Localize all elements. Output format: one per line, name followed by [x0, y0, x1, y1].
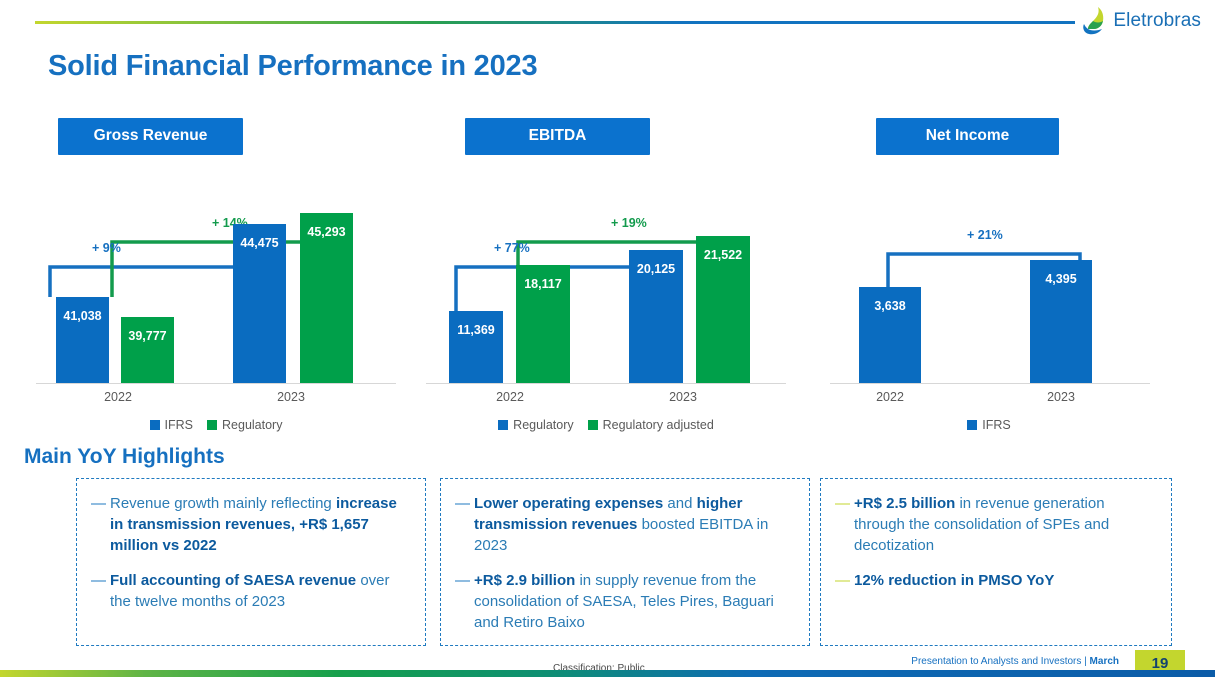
x-tick-2022: 2022 — [860, 390, 920, 404]
bar-value: 18,117 — [516, 277, 570, 291]
bar-value: 20,125 — [629, 262, 683, 276]
bar-value: 41,038 — [56, 309, 109, 323]
legend-swatch-blue-icon — [498, 420, 508, 430]
bullet-dash-icon: — — [835, 493, 854, 556]
bar-ifrs-2023: 4,395 — [1030, 260, 1092, 383]
plot-area-net-income: + 21% 3,638 4,395 — [830, 179, 1200, 384]
footer-presentation-info: Presentation to Analysts and Investors |… — [911, 655, 1119, 681]
pct-label-blue-gross: + 9% — [92, 241, 121, 255]
legend-label: Regulatory — [222, 418, 282, 432]
bar-value: 11,369 — [449, 323, 503, 337]
chart-ebitda: EBITDA + 77% + 19% 11,369 18,117 20,125 … — [426, 118, 786, 438]
bullet-dash-icon: — — [835, 570, 854, 591]
bar-regulatory-2023: 45,293 — [300, 213, 353, 383]
highlight-box-net-income: — +R$ 2.5 billion in revenue generation … — [820, 478, 1172, 646]
bar-regulatory-2022: 11,369 — [449, 311, 503, 383]
legend-item-regulatory: Regulatory — [207, 418, 282, 432]
highlight-box-gross-revenue: — Revenue growth mainly reflecting incre… — [76, 478, 426, 646]
eletrobras-flame-icon — [1081, 6, 1107, 36]
legend-swatch-blue-icon — [967, 420, 977, 430]
chart-net-income: Net Income + 21% 3,638 4,395 2022 2023 I… — [830, 118, 1200, 438]
highlight-item: — Lower operating expenses and higher tr… — [455, 493, 793, 556]
x-tick-2023: 2023 — [261, 390, 321, 404]
legend-label: Regulatory — [513, 418, 573, 432]
chart-title-gross-revenue: Gross Revenue — [58, 118, 243, 155]
x-tick-2022: 2022 — [480, 390, 540, 404]
highlight-text: Full accounting of SAESA revenue over th… — [110, 570, 409, 612]
legend-ebitda: Regulatory Regulatory adjusted — [426, 418, 786, 432]
chart-title-net-income: Net Income — [876, 118, 1059, 155]
legend-item-ifrs: IFRS — [150, 418, 193, 432]
highlight-item: — +R$ 2.5 billion in revenue generation … — [835, 493, 1155, 556]
bullet-dash-icon: — — [455, 493, 474, 556]
bar-value: 21,522 — [696, 248, 750, 262]
bullet-dash-icon: — — [91, 493, 110, 556]
page-title: Solid Financial Performance in 2023 — [48, 50, 537, 83]
legend-net-income: IFRS — [830, 418, 1200, 432]
pct-label-blue-net: + 21% — [967, 228, 1003, 242]
x-tick-2022: 2022 — [88, 390, 148, 404]
highlight-item: — Full accounting of SAESA revenue over … — [91, 570, 409, 612]
eletrobras-logo: Eletrobras — [1081, 4, 1201, 38]
bar-value: 4,395 — [1030, 272, 1092, 286]
legend-item-regulatory-adjusted: Regulatory adjusted — [588, 418, 714, 432]
legend-label: Regulatory adjusted — [603, 418, 714, 432]
pct-label-blue-ebitda: + 77% — [494, 241, 530, 255]
bar-regulatory-2022: 39,777 — [121, 317, 174, 383]
highlights-heading: Main YoY Highlights — [24, 445, 225, 469]
highlight-text: 12% reduction in PMSO YoY — [854, 570, 1054, 591]
legend-swatch-green-icon — [207, 420, 217, 430]
bar-regulatory-adjusted-2023: 21,522 — [696, 236, 750, 383]
x-axis-labels-ebitda: 2022 2023 — [426, 384, 786, 410]
legend-swatch-blue-icon — [150, 420, 160, 430]
highlight-item: — Revenue growth mainly reflecting incre… — [91, 493, 409, 556]
bar-value: 44,475 — [233, 236, 286, 250]
legend-item-regulatory: Regulatory — [498, 418, 573, 432]
highlight-text: Lower operating expenses and higher tran… — [474, 493, 793, 556]
plot-area-ebitda: + 77% + 19% 11,369 18,117 20,125 21,522 — [426, 179, 786, 384]
bar-regulatory-adjusted-2022: 18,117 — [516, 265, 570, 383]
bullet-dash-icon: — — [455, 570, 474, 633]
bar-ifrs-2023: 44,475 — [233, 224, 286, 383]
bar-value: 39,777 — [121, 329, 174, 343]
x-axis-labels-net: 2022 2023 — [830, 384, 1200, 410]
bullet-dash-icon: — — [91, 570, 110, 612]
bar-ifrs-2022: 41,038 — [56, 297, 109, 383]
logo-wordmark: Eletrobras — [1113, 10, 1201, 32]
bar-value: 45,293 — [300, 225, 353, 239]
chart-gross-revenue: Gross Revenue + 9% + 14% 41,038 39,777 4… — [36, 118, 396, 438]
highlight-item: — 12% reduction in PMSO YoY — [835, 570, 1155, 591]
bar-regulatory-2023: 20,125 — [629, 250, 683, 383]
plot-area-gross-revenue: + 9% + 14% 41,038 39,777 44,475 45,293 — [36, 179, 396, 384]
x-tick-2023: 2023 — [653, 390, 713, 404]
highlight-text: +R$ 2.9 billion in supply revenue from t… — [474, 570, 793, 633]
pct-label-green-ebitda: + 19% — [611, 216, 647, 230]
highlight-item: — +R$ 2.9 billion in supply revenue from… — [455, 570, 793, 633]
highlight-box-ebitda: — Lower operating expenses and higher tr… — [440, 478, 810, 646]
header-accent-rule — [35, 21, 1075, 24]
legend-item-ifrs: IFRS — [967, 418, 1010, 432]
x-tick-2023: 2023 — [1031, 390, 1091, 404]
chart-title-ebitda: EBITDA — [465, 118, 650, 155]
legend-gross-revenue: IFRS Regulatory — [36, 418, 396, 432]
x-axis-labels-gross: 2022 2023 — [36, 384, 396, 410]
bar-value: 3,638 — [859, 299, 921, 313]
highlight-text: +R$ 2.5 billion in revenue generation th… — [854, 493, 1155, 556]
legend-label: IFRS — [982, 418, 1010, 432]
highlight-text: Revenue growth mainly reflecting increas… — [110, 493, 409, 556]
bar-ifrs-2022: 3,638 — [859, 287, 921, 383]
footer-accent-bar — [0, 670, 1215, 677]
legend-swatch-green-icon — [588, 420, 598, 430]
legend-label: IFRS — [165, 418, 193, 432]
